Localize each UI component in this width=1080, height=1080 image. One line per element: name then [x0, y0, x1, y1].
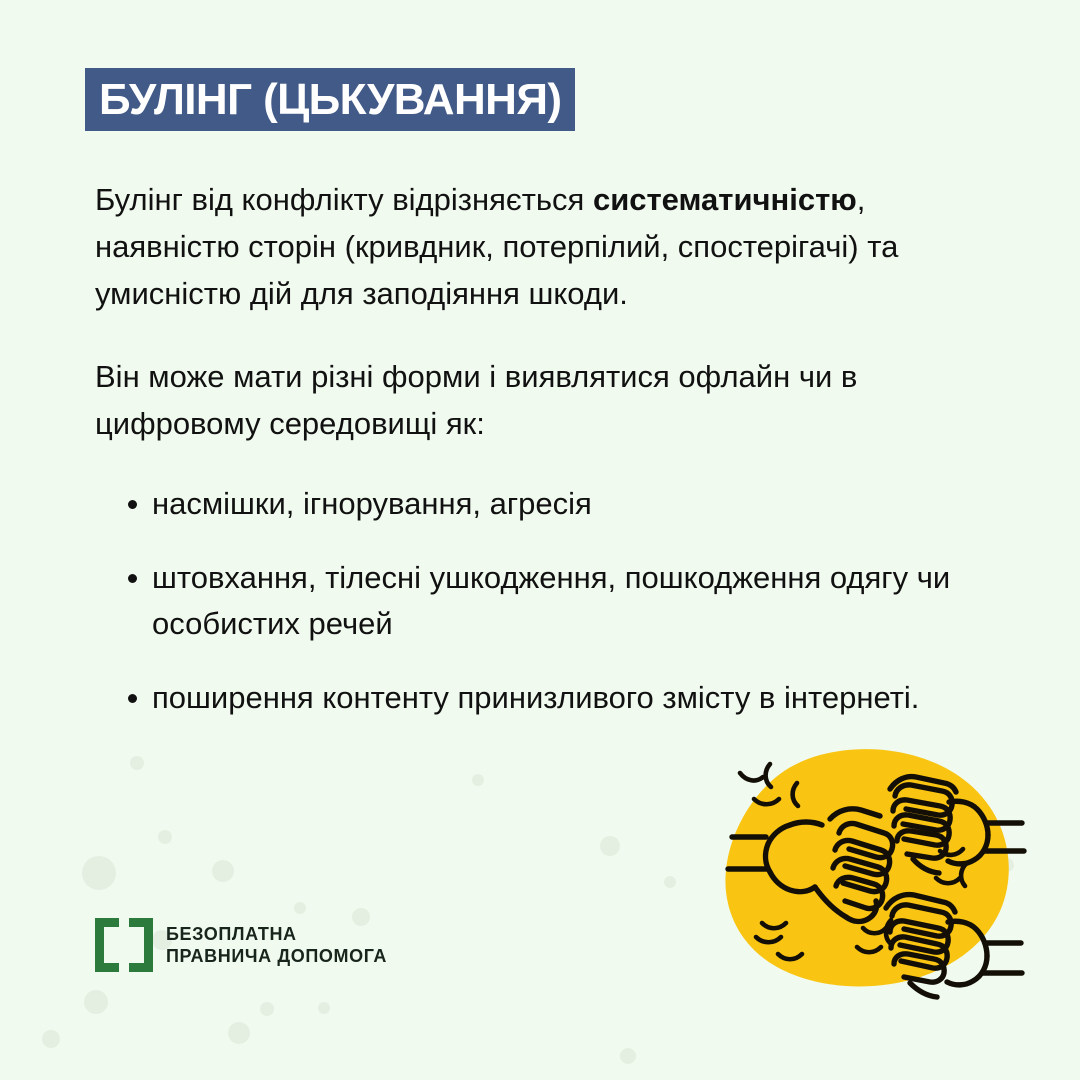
decor-dot: [620, 1048, 636, 1064]
decor-dot: [294, 902, 306, 914]
decor-dot: [212, 860, 234, 882]
decor-dot: [158, 830, 172, 844]
organization-logo: БЕЗОПЛАТНА ПРАВНИЧА ДОПОМОГА: [95, 918, 387, 972]
decor-dot: [42, 1030, 60, 1048]
paragraph-definition: Булінг від конфлікту відрізняється систе…: [95, 176, 985, 317]
decor-dot: [318, 1002, 330, 1014]
list-item-label: поширення контенту принизливого змісту в…: [152, 680, 919, 715]
page-title: БУЛІНГ (ЦЬКУВАННЯ): [99, 78, 561, 122]
decor-dot: [84, 990, 108, 1014]
page-title-banner: БУЛІНГ (ЦЬКУВАННЯ): [85, 68, 575, 131]
list-item-label: насмішки, ігнорування, агресія: [152, 486, 592, 521]
illustration-svg: [700, 745, 1030, 1005]
paragraph-1-emphasis: систематичністю: [593, 182, 857, 217]
list-item: насмішки, ігнорування, агресія: [95, 481, 995, 527]
bullet-dot-icon: [128, 574, 137, 583]
list-item-label: штовхання, тілесні ушкодження, пошкоджен…: [152, 560, 950, 641]
decor-dot: [260, 1002, 274, 1016]
poster-canvas: БУЛІНГ (ЦЬКУВАННЯ) Булінг від конфлікту …: [0, 0, 1080, 1080]
logo-line-2: ПРАВНИЧА ДОПОМОГА: [166, 945, 387, 967]
decor-dot: [228, 1022, 250, 1044]
main-content: Булінг від конфлікту відрізняється систе…: [95, 176, 995, 749]
decor-dot: [600, 836, 620, 856]
list-item: поширення контенту принизливого змісту в…: [95, 675, 995, 721]
bullet-dot-icon: [128, 500, 137, 509]
logo-wordmark: БЕЗОПЛАТНА ПРАВНИЧА ДОПОМОГА: [166, 923, 387, 967]
bullying-forms-list: насмішки, ігнорування, агресія штовхання…: [95, 481, 995, 721]
decor-dot: [130, 756, 144, 770]
three-fists-illustration: [700, 745, 1030, 1005]
paragraph-1-part-1: Булінг від конфлікту відрізняється: [95, 182, 593, 217]
decor-dot: [664, 876, 676, 888]
paragraph-forms-intro: Він може мати різні форми і виявлятися о…: [95, 353, 985, 447]
square-brackets-icon: [95, 918, 153, 972]
logo-line-1: БЕЗОПЛАТНА: [166, 923, 387, 945]
decor-dot: [82, 856, 116, 890]
right-bracket-icon: [129, 918, 153, 972]
decor-dot: [472, 774, 484, 786]
left-bracket-icon: [95, 918, 119, 972]
bullet-dot-icon: [128, 694, 137, 703]
list-item: штовхання, тілесні ушкодження, пошкоджен…: [95, 555, 995, 647]
